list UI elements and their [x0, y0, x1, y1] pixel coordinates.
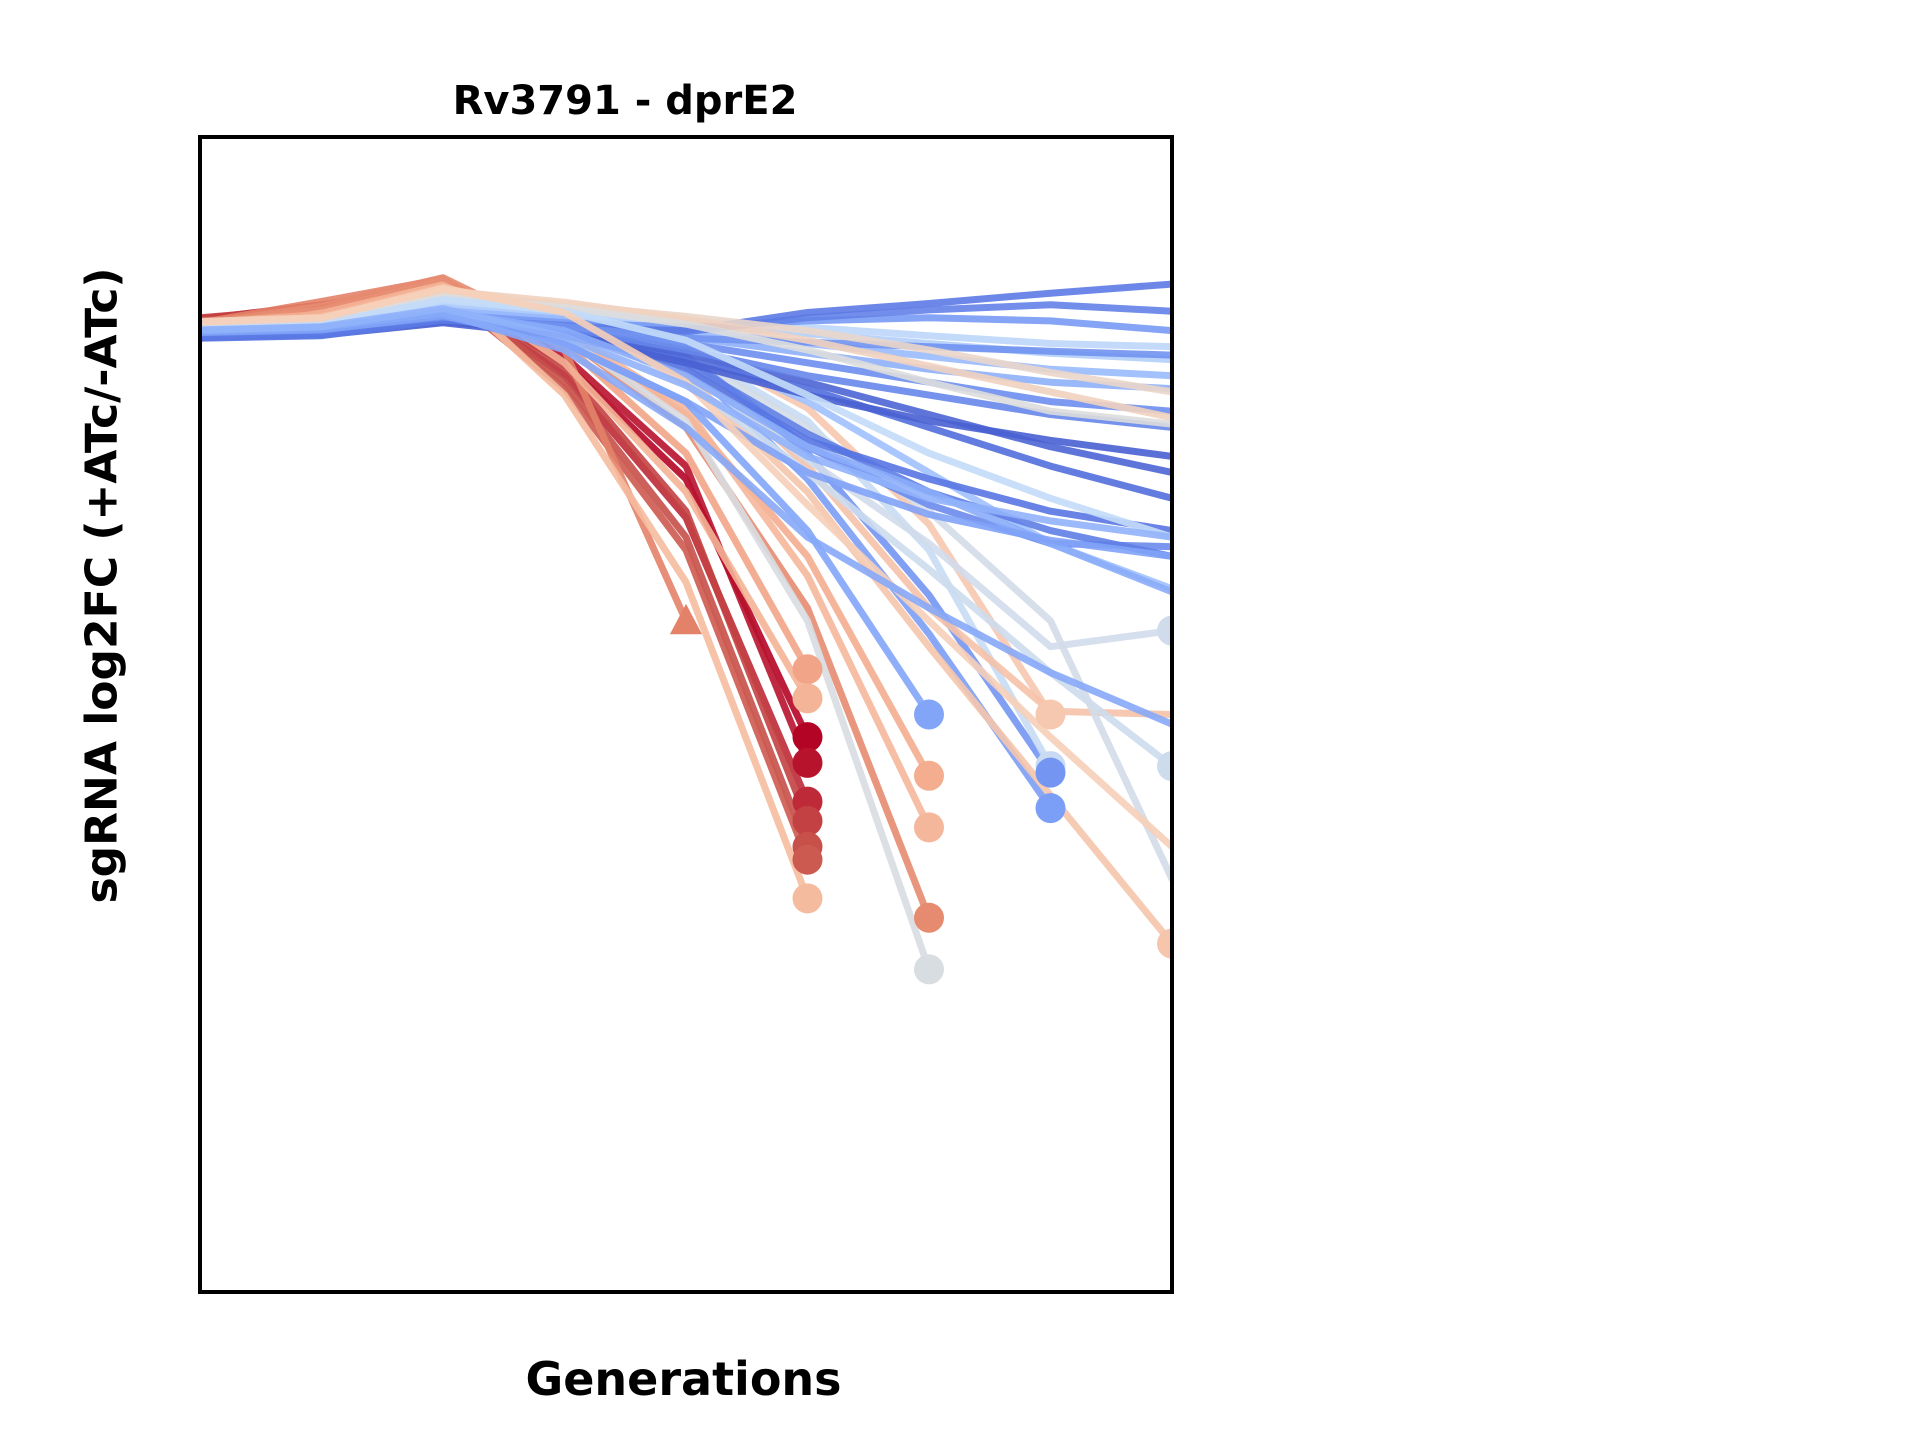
series-marker-circle: [793, 806, 823, 836]
series-marker-circle: [914, 700, 944, 730]
series-marker-circle: [914, 954, 944, 984]
series-marker-circle: [793, 683, 823, 713]
series-marker-circle: [1036, 793, 1066, 823]
series-marker-circle: [1036, 758, 1066, 788]
series-marker-circle: [793, 883, 823, 913]
series-marker-circle: [793, 654, 823, 684]
series-marker-circle: [793, 845, 823, 875]
plot-area: [0, 0, 1920, 1440]
series-marker-circle: [1036, 700, 1066, 730]
series-marker-circle: [793, 722, 823, 752]
series-marker-circle: [793, 748, 823, 778]
figure-root: Rv3791 - dprE2 sgRNA log2FC (+ATc/-ATc) …: [0, 0, 1920, 1440]
series-marker-circle: [914, 761, 944, 791]
series-marker-circle: [914, 812, 944, 842]
series-marker-circle: [914, 903, 944, 933]
